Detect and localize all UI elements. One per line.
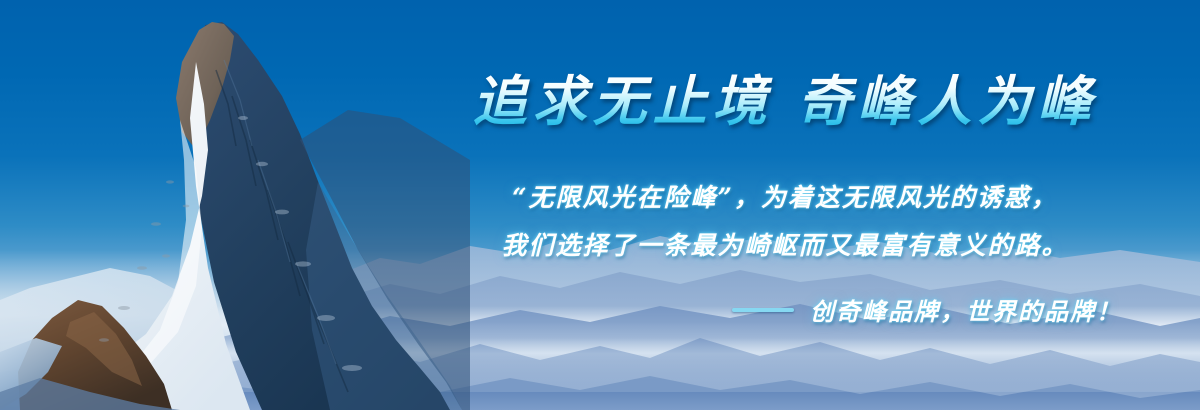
banner-copy: 追求无止境 奇峰人为峰 “无限风光在险峰”，为着这无限风光的诱惑， 我们选择了一…: [370, 0, 1200, 410]
banner-attribution: 创奇峰品牌，世界的品牌！: [732, 292, 1122, 327]
banner-headline: 追求无止境 奇峰人为峰: [382, 72, 1188, 130]
em-dash-icon: [732, 308, 794, 312]
hero-banner: 追求无止境 奇峰人为峰 “无限风光在险峰”，为着这无限风光的诱惑， 我们选择了一…: [0, 0, 1200, 410]
attribution-text: 创奇峰品牌，世界的品牌！: [810, 292, 1122, 327]
banner-subtitle-line-2: 我们选择了一条最为崎岖而又最富有意义的路。: [382, 226, 1188, 262]
banner-subtitle-line-1: “无限风光在险峰”，为着这无限风光的诱惑，: [382, 178, 1188, 214]
